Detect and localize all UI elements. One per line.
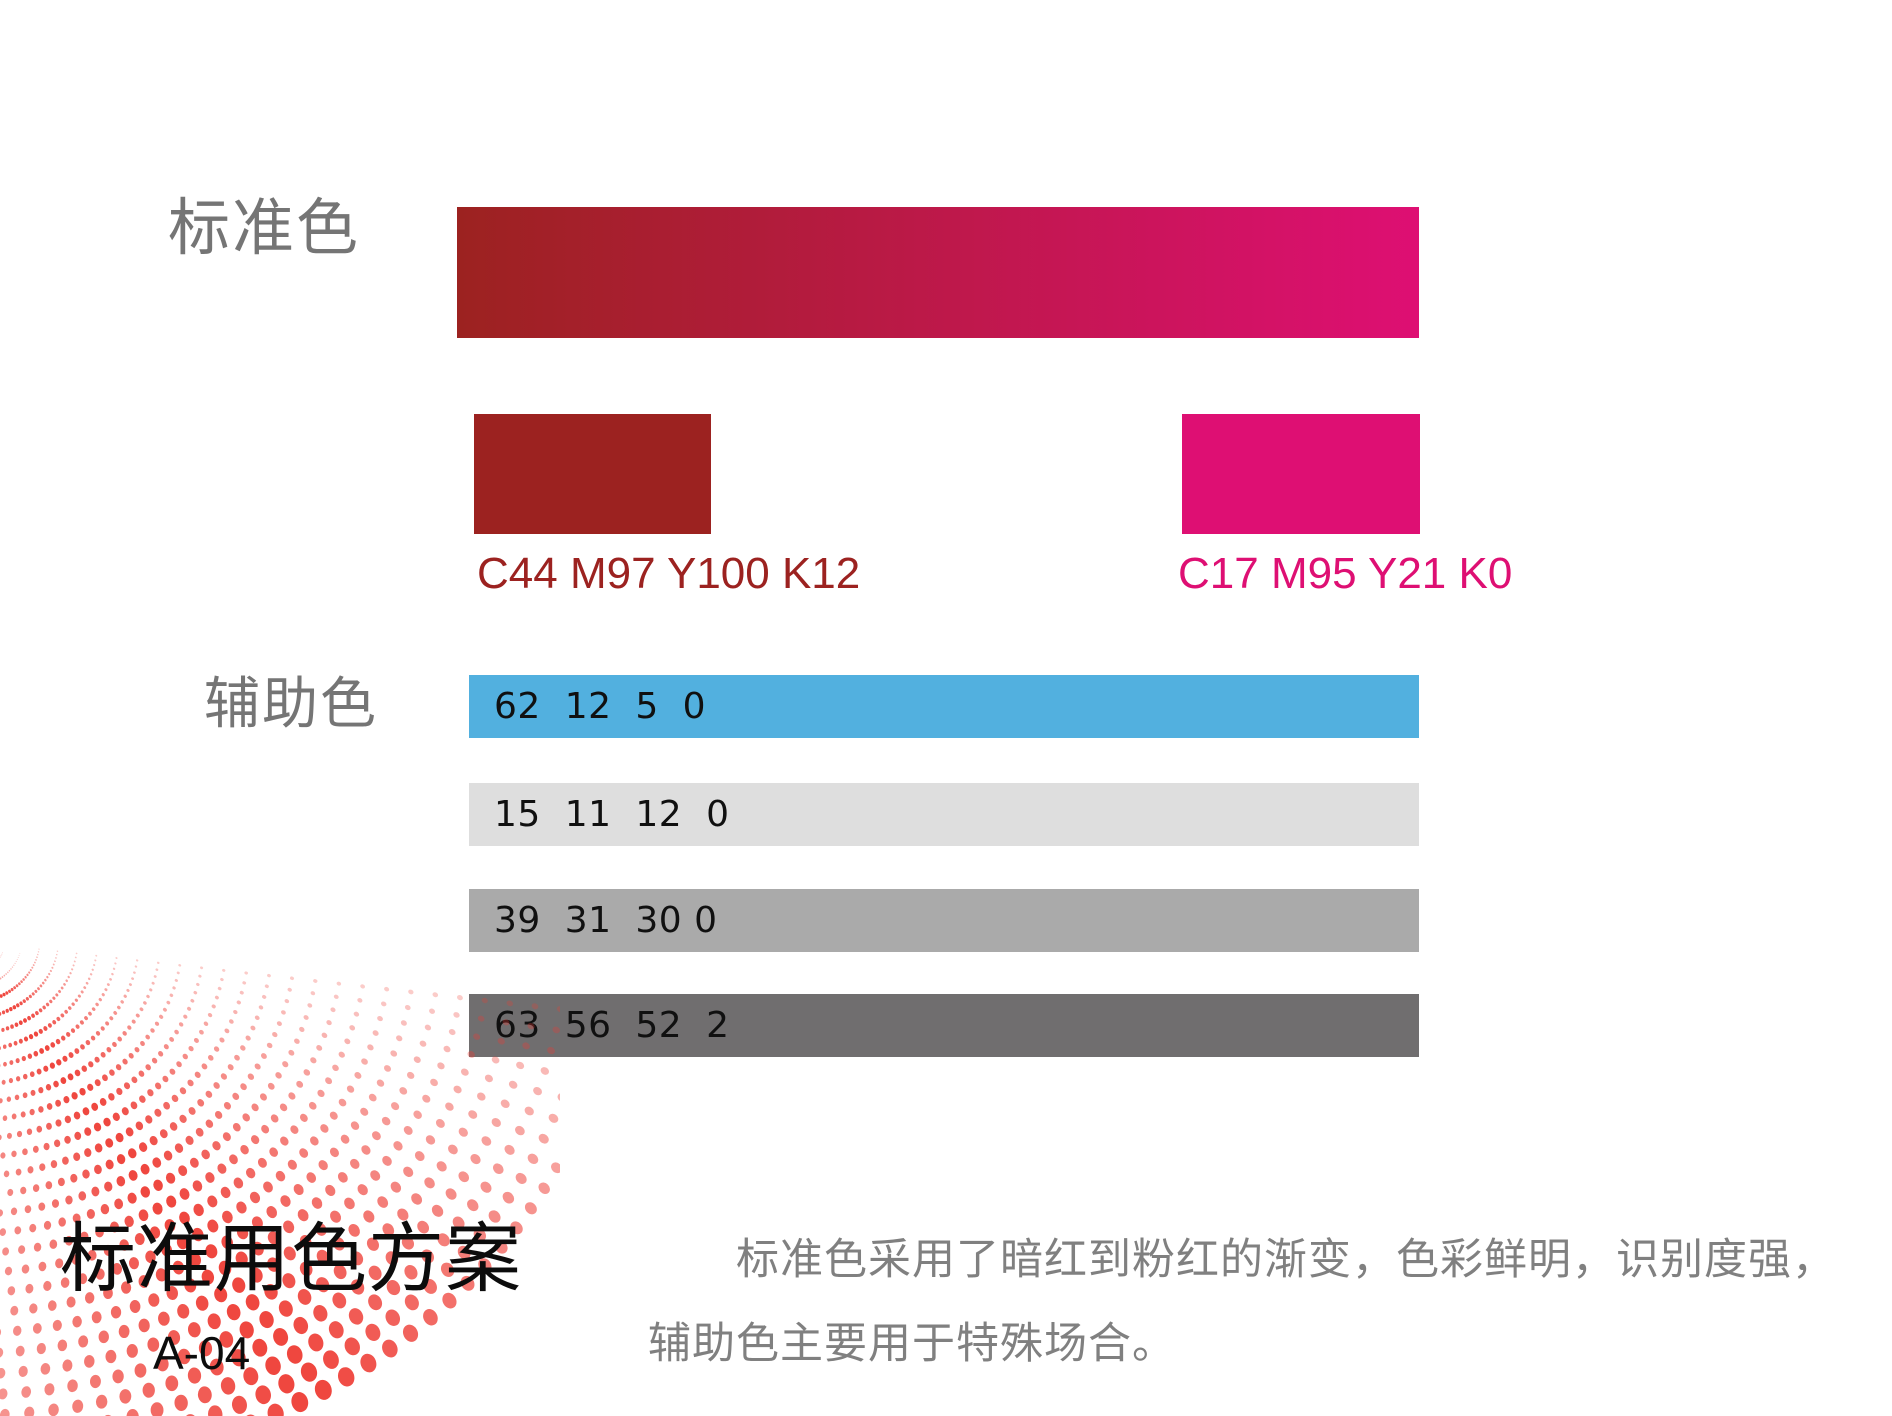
auxiliary-bar-blue: 62 12 5 0 [469,675,1419,738]
auxiliary-bar-dark-gray-value: 63 56 52 2 [469,1008,730,1044]
auxiliary-bar-blue-value: 62 12 5 0 [469,689,706,725]
section-label-standard-color: 标准色 [168,198,360,260]
standard-color-gradient-bar [457,207,1419,338]
auxiliary-bar-dark-gray: 63 56 52 2 [469,994,1419,1057]
auxiliary-bar-mid-gray-value: 39 31 30 0 [469,903,718,939]
description-paragraph: 标准色采用了暗红到粉红的渐变，色彩鲜明，识别度强， 辅助色主要用于特殊场合。 [648,1218,1878,1386]
auxiliary-bar-mid-gray: 39 31 30 0 [469,889,1419,952]
standard-swatch-pink [1182,414,1420,534]
description-line-2: 辅助色主要用于特殊场合。 [648,1302,1878,1386]
auxiliary-bar-light-gray: 15 11 12 0 [469,783,1419,846]
standard-swatch-dark-red-caption: C44 M97 Y100 K12 [477,552,860,596]
auxiliary-bar-light-gray-value: 15 11 12 0 [469,797,730,833]
page-title: 标准用色方案 [60,1222,522,1298]
page-code: A-04 [153,1330,250,1376]
slide-canvas: 标准色 C44 M97 Y100 K12 C17 M95 Y21 K0 辅助色 … [0,0,1892,1416]
standard-swatch-dark-red [474,414,711,534]
standard-swatch-pink-caption: C17 M95 Y21 K0 [1178,552,1512,596]
section-label-auxiliary-color: 辅助色 [204,676,378,732]
description-line-1: 标准色采用了暗红到粉红的渐变，色彩鲜明，识别度强， [648,1218,1878,1302]
